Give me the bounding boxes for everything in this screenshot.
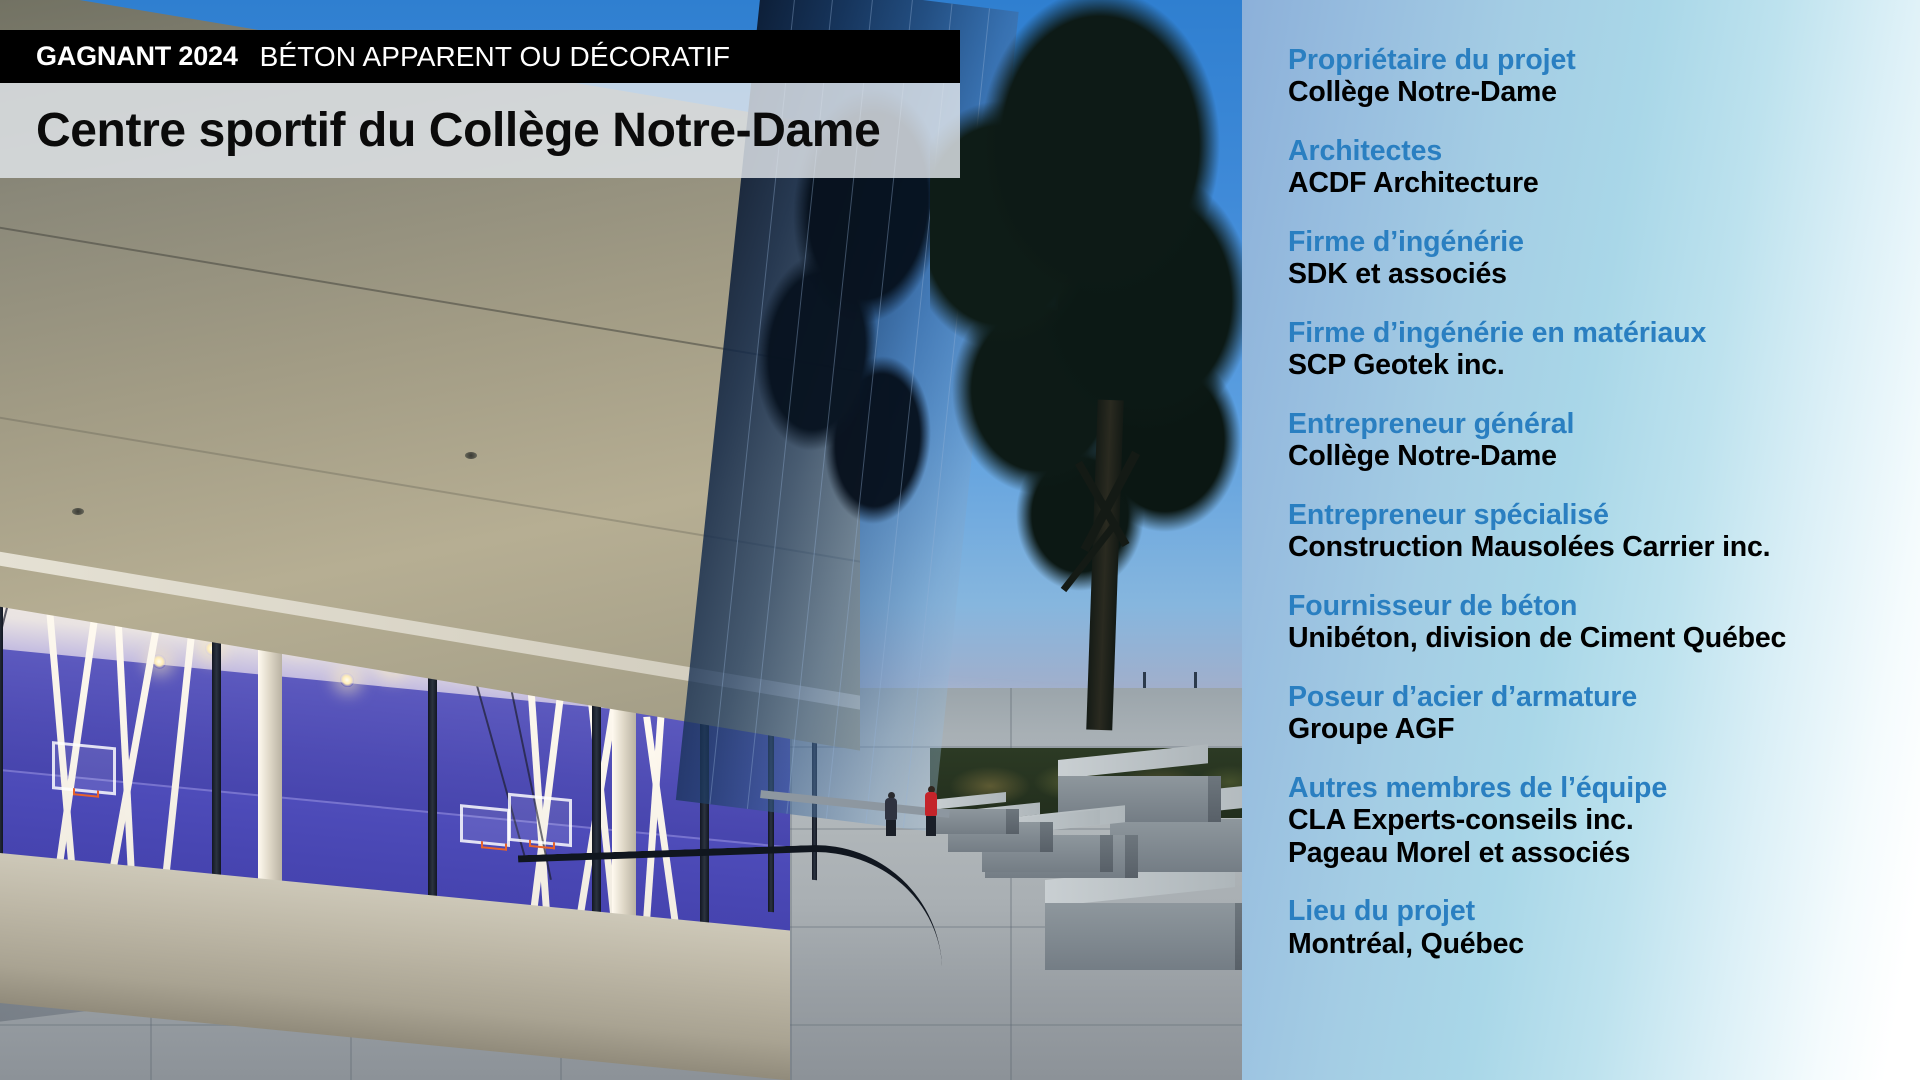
soffit-downlight (72, 508, 84, 515)
person-walking (884, 792, 898, 836)
basketball-hoop (508, 793, 572, 847)
credit-value: Groupe AGF (1288, 713, 1920, 745)
credit-label: Entrepreneur spécialisé (1288, 499, 1920, 531)
basketball-hoop (52, 741, 116, 795)
credit-value: ACDF Architecture (1288, 167, 1920, 199)
project-credits-panel: Propriétaire du projetCollège Notre-Dame… (1242, 0, 1920, 1080)
credit-value: SCP Geotek inc. (1288, 349, 1920, 381)
person-in-red-jacket (924, 786, 938, 836)
category-label: BÉTON APPARENT OU DÉCORATIF (260, 41, 730, 73)
credit-entry: Fournisseur de bétonUnibéton, division d… (1288, 590, 1920, 655)
credit-label: Poseur d’acier d’armature (1288, 681, 1920, 713)
page-title: Centre sportif du Collège Notre-Dame (36, 103, 880, 158)
poster-canvas: GAGNANT 2024 BÉTON APPARENT OU DÉCORATIF… (0, 0, 1920, 1080)
curved-curb (518, 841, 942, 983)
credit-entry: Entrepreneur spécialiséConstruction Maus… (1288, 499, 1920, 564)
award-label: GAGNANT 2024 (36, 41, 238, 72)
credit-entry: Firme d’ingénérie en matériauxSCP Geotek… (1288, 317, 1920, 382)
credit-value: SDK et associés (1288, 258, 1920, 290)
credit-label: Autres membres de l’équipe (1288, 772, 1920, 804)
credit-label: Architectes (1288, 135, 1920, 167)
credit-label: Fournisseur de béton (1288, 590, 1920, 622)
foreground-tree (930, 0, 1242, 730)
credit-value: CLA Experts-conseils inc. (1288, 804, 1920, 836)
concrete-bench (1045, 880, 1235, 970)
credit-label: Firme d’ingénérie (1288, 226, 1920, 258)
credit-entry: Autres membres de l’équipeCLA Experts-co… (1288, 772, 1920, 869)
credit-label: Lieu du projet (1288, 895, 1920, 927)
credit-value: Unibéton, division de Ciment Québec (1288, 622, 1920, 654)
credit-entry: Firme d’ingénérieSDK et associés (1288, 226, 1920, 291)
credit-label: Entrepreneur général (1288, 408, 1920, 440)
credit-entry: Propriétaire du projetCollège Notre-Dame (1288, 44, 1920, 109)
credit-entry: Poseur d’acier d’armatureGroupe AGF (1288, 681, 1920, 746)
credit-value: Collège Notre-Dame (1288, 440, 1920, 472)
credit-label: Propriétaire du projet (1288, 44, 1920, 76)
credit-value: Collège Notre-Dame (1288, 76, 1920, 108)
credit-entry: Lieu du projetMontréal, Québec (1288, 895, 1920, 960)
basketball-hoop (460, 804, 510, 847)
project-title-banner: Centre sportif du Collège Notre-Dame (0, 83, 960, 178)
credit-value: Montréal, Québec (1288, 928, 1920, 960)
award-banner: GAGNANT 2024 BÉTON APPARENT OU DÉCORATIF (0, 30, 960, 83)
credit-entry: ArchitectesACDF Architecture (1288, 135, 1920, 200)
credit-value: Construction Mausolées Carrier inc. (1288, 531, 1920, 563)
credit-label: Firme d’ingénérie en matériaux (1288, 317, 1920, 349)
credit-value-secondary: Pageau Morel et associés (1288, 837, 1920, 869)
soffit-downlight (465, 452, 477, 459)
credit-entry: Entrepreneur généralCollège Notre-Dame (1288, 408, 1920, 473)
